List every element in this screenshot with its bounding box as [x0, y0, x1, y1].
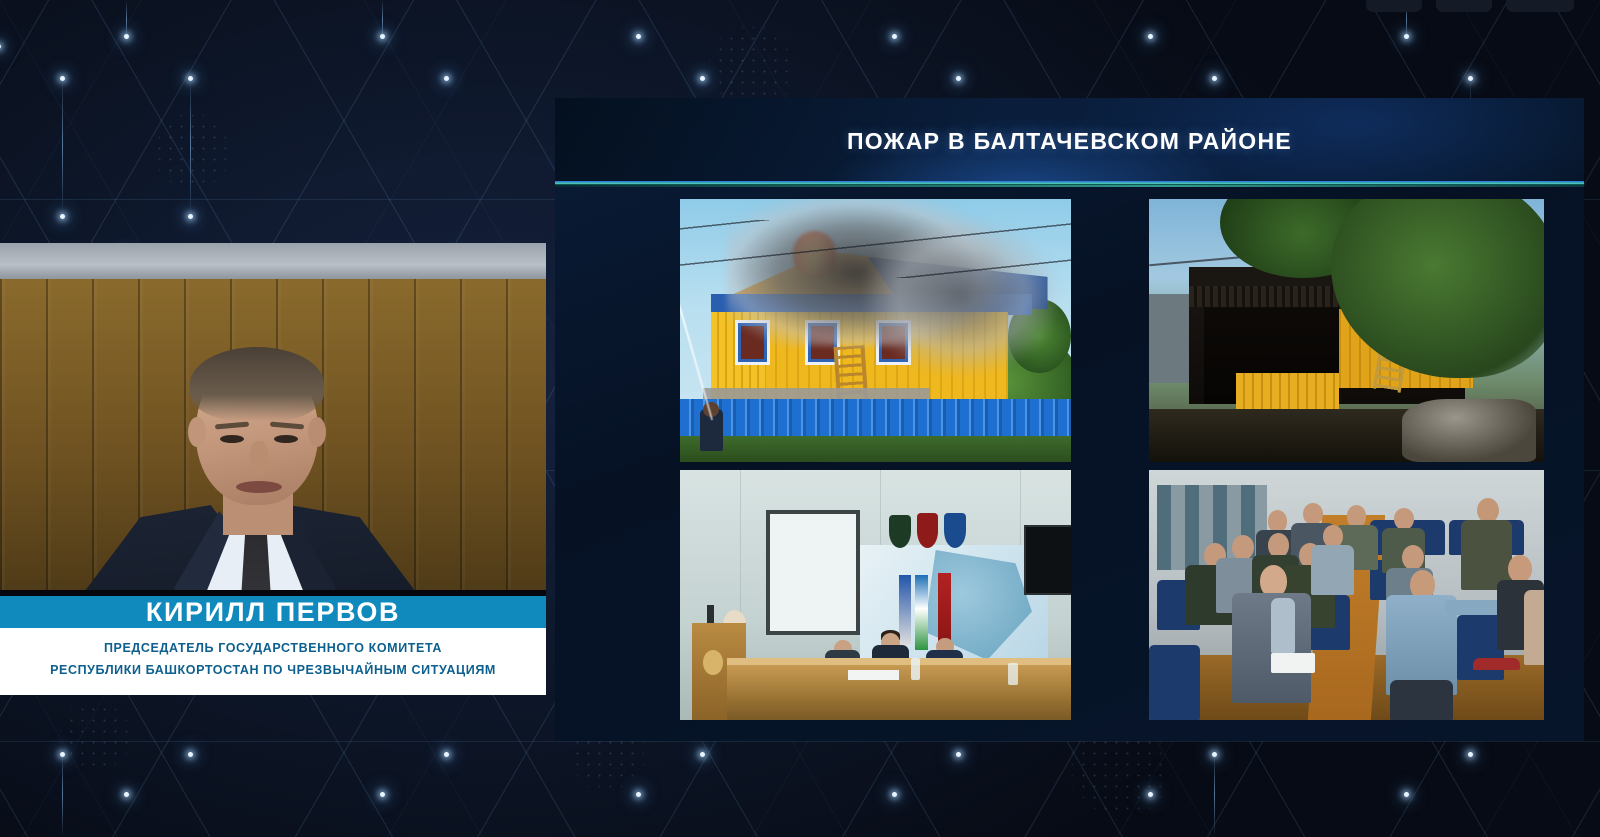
glow-node: [636, 792, 641, 797]
chrome-button-3[interactable]: [1506, 0, 1574, 12]
glow-node: [1148, 34, 1153, 39]
podium-crest: [703, 650, 723, 675]
glow-node: [1148, 792, 1153, 797]
glow-node: [1212, 76, 1217, 81]
attendee-head: [1508, 555, 1532, 583]
mouth: [236, 481, 282, 493]
front-attendee-trousers: [1390, 680, 1453, 720]
glow-node: [892, 792, 897, 797]
glow-node: [636, 34, 641, 39]
documents-on-table: [848, 670, 899, 680]
flag-one: [899, 575, 911, 645]
attendee-body: [1311, 545, 1354, 595]
broadcast-stage: Мужчина в тёмном костюме выступает за ми…: [0, 0, 1600, 837]
lower-third-name-bar: КИРИЛЛ ПЕРВОВ: [0, 596, 546, 628]
glow-node: [700, 76, 705, 81]
documents-in-hands: [1271, 653, 1314, 673]
glow-node: [1404, 792, 1409, 797]
speaker-video-feed[interactable]: Мужчина в тёмном костюме выступает за ми…: [0, 243, 546, 596]
glow-node: [956, 76, 961, 81]
ear-right: [308, 417, 326, 447]
hair: [190, 347, 324, 421]
coat-of-arms-russia: [917, 513, 939, 548]
photo-presidium[interactable]: Зал заседаний, президиум, экран, флаги и…: [680, 470, 1071, 720]
glow-node: [956, 752, 961, 757]
coat-of-arms-district: [889, 515, 911, 548]
glow-node: [444, 76, 449, 81]
chrome-button-1[interactable]: [1366, 0, 1422, 12]
glow-node: [444, 752, 449, 757]
attendee-head: [1232, 535, 1254, 560]
flag-bashkortostan: [915, 575, 928, 650]
glow-node: [892, 34, 897, 39]
panel-divider-glow: [555, 185, 1584, 187]
glow-node: [188, 752, 193, 757]
speaker-title-line-2: РЕСПУБЛИКИ БАШКОРТОСТАН ПО ЧРЕЗВЫЧАЙНЫМ …: [0, 660, 546, 682]
water-bottle: [911, 658, 920, 681]
hex-vertical-glow: [126, 0, 127, 40]
news-graphic-panel: ПОЖАР В БАЛТАЧЕВСКОМ РАЙОНЕ: [555, 98, 1584, 741]
photo-audience[interactable]: Участники совещания в зале, сотрудники М…: [1149, 470, 1544, 720]
lower-third-title-block: ПРЕДСЕДАТЕЛЬ ГОСУДАРСТВЕННОГО КОМИТЕТА Р…: [0, 628, 546, 695]
ear-left: [188, 417, 206, 447]
ceiling-strip: [0, 243, 546, 279]
coat-of-arms-bashkortostan: [944, 513, 966, 548]
eye-left: [220, 435, 244, 443]
attendee-head: [1303, 503, 1323, 526]
photo-burnt-house[interactable]: Сгоревший дом после пожара, обугленные к…: [1149, 199, 1544, 462]
lower-third-caption: КИРИЛЛ ПЕРВОВ ПРЕДСЕДАТЕЛЬ ГОСУДАРСТВЕНН…: [0, 596, 546, 695]
grass-ground: [680, 436, 1071, 462]
projection-screen: [766, 510, 860, 635]
water-bottle-second: [1008, 663, 1017, 686]
hex-vertical-glow: [62, 752, 63, 837]
chair: [1149, 645, 1200, 720]
power-lines: [680, 220, 1071, 278]
presidium-table-edge: [727, 658, 1071, 666]
attendee-head: [1394, 508, 1414, 531]
rubble-debris: [1402, 399, 1536, 462]
glow-node: [700, 752, 705, 757]
wall-tv: [1024, 525, 1071, 595]
speaker-title-line-1: ПРЕДСЕДАТЕЛЬ ГОСУДАРСТВЕННОГО КОМИТЕТА: [0, 638, 546, 660]
hex-vertical-glow: [1214, 752, 1215, 837]
nose: [250, 441, 268, 475]
photo-burning-house[interactable]: Горящий деревянный дом, дым, пожарный с …: [680, 199, 1071, 462]
eye-right: [274, 435, 298, 443]
hex-vertical-glow: [190, 76, 191, 216]
photo-grid: Горящий деревянный дом, дым, пожарный с …: [680, 199, 1576, 719]
glow-node: [124, 792, 129, 797]
blue-fence: [680, 399, 1071, 436]
attendee-head: [1402, 545, 1424, 570]
officer-head: [1477, 498, 1499, 523]
speaker-figure: [78, 355, 418, 596]
panel-header: ПОЖАР В БАЛТАЧЕВСКОМ РАЙОНЕ: [555, 98, 1584, 184]
attendee-body-light: [1524, 590, 1544, 665]
hex-vertical-glow: [382, 0, 383, 40]
glow-node: [380, 792, 385, 797]
hex-vertical-glow: [62, 76, 63, 216]
red-documents: [1473, 658, 1520, 671]
speaker-name: КИРИЛЛ ПЕРВОВ: [146, 599, 400, 626]
flag-red: [938, 573, 951, 648]
glow-node: [1468, 752, 1473, 757]
front-attendee-shirt: [1271, 598, 1295, 653]
panel-title: ПОЖАР В БАЛТАЧЕВСКОМ РАЙОНЕ: [847, 128, 1292, 155]
chrome-button-2[interactable]: [1436, 0, 1492, 12]
attendee-head: [1268, 533, 1290, 558]
